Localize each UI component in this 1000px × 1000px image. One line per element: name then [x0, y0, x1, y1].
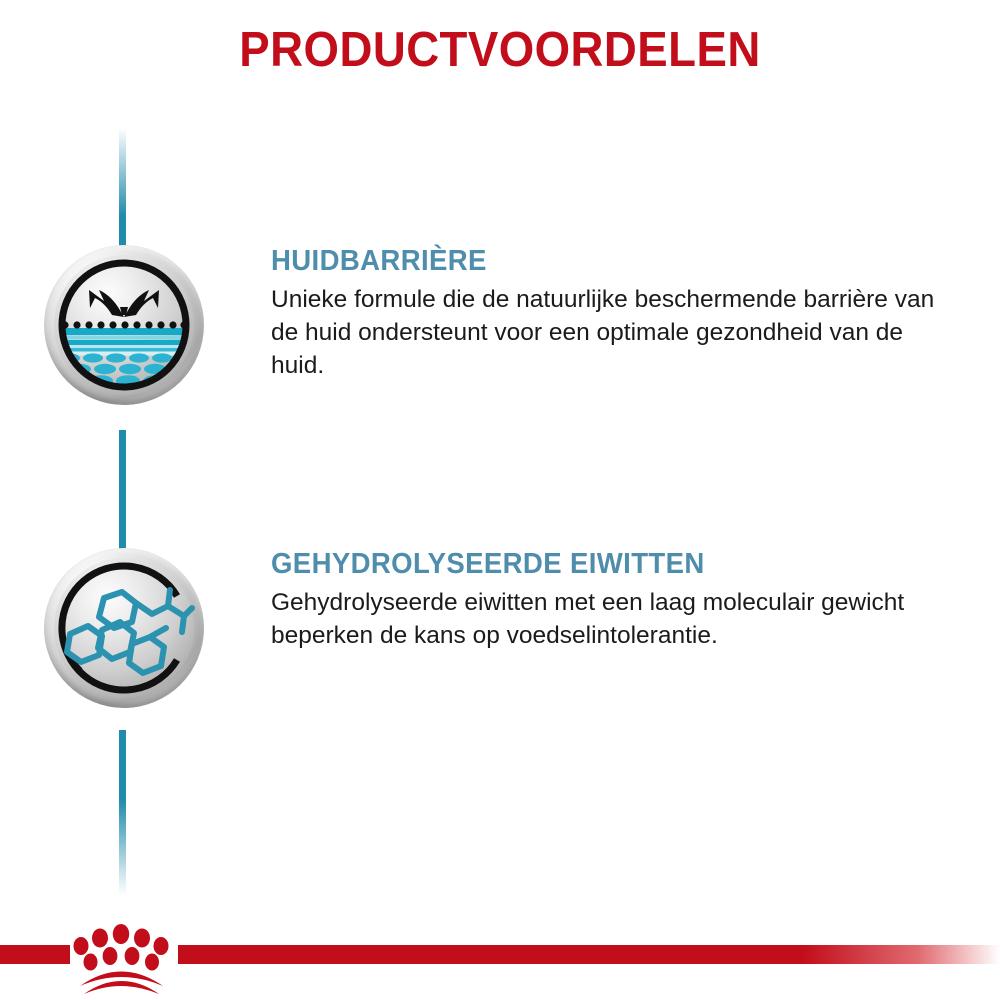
footer-bar-right-segment [178, 945, 1000, 964]
timeline-line-bottom [119, 730, 126, 895]
benefit-heading: HUIDBARRIÈRE [271, 245, 927, 278]
skin-barrier-icon [44, 245, 204, 405]
royal-canin-crown-logo [62, 924, 182, 996]
page-title: PRODUCTVOORDELEN [35, 22, 965, 78]
benefit-heading: GEHYDROLYSEERDE EIWITTEN [271, 548, 927, 581]
skin-barrier-glyph [44, 245, 204, 405]
dotted-membrane [61, 321, 187, 328]
benefit-text-block: GEHYDROLYSEERDE EIWITTEN Gehydrolyseerde… [271, 548, 961, 652]
footer-bar-left-segment [0, 945, 70, 964]
molecule-glyph [44, 548, 204, 708]
hydrolysed-protein-molecule-icon [44, 548, 204, 708]
product-benefits-page: PRODUCTVOORDELEN [0, 0, 1000, 1000]
benefit-body: Unieke formule die de natuurlijke besche… [271, 283, 961, 382]
benefit-body: Gehydrolyseerde eiwitten met een laag mo… [271, 586, 961, 652]
outward-arrows [89, 290, 159, 317]
benefit-text-block: HUIDBARRIÈRE Unieke formule die de natuu… [271, 245, 961, 382]
footer-brand-bar [0, 928, 1000, 1000]
